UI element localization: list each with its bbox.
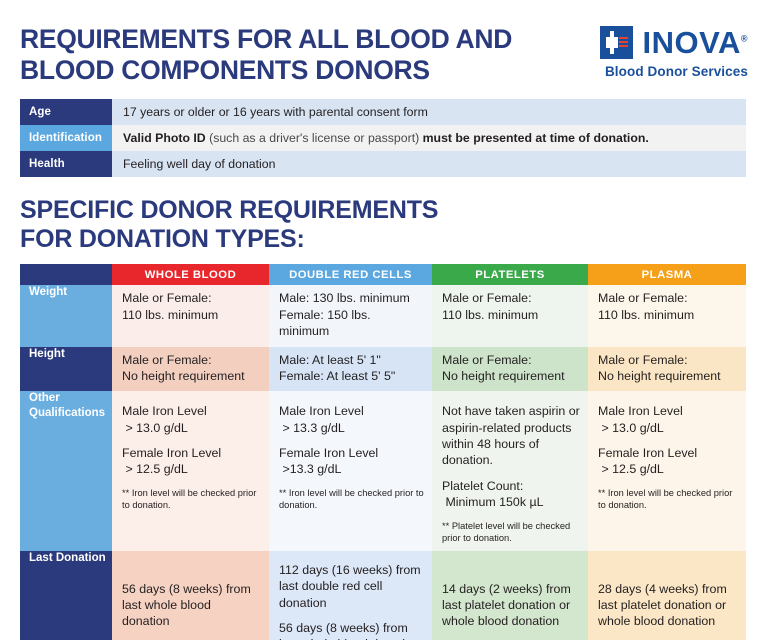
page-title-line2: BLOOD COMPONENTS DONORS: [20, 55, 512, 86]
text-line: Female: 150 lbs. minimum: [279, 308, 371, 338]
cell-last-donation-platelets: 14 days (2 weeks) from last platelet don…: [432, 551, 588, 640]
text-line: Female Iron Level: [279, 446, 378, 460]
text-line: No height requirement: [122, 369, 245, 383]
logo-wordmark-text: INOVA: [642, 25, 740, 60]
donation-requirements-table: WHOLE BLOOD DOUBLE RED CELLS PLATELETS P…: [20, 264, 746, 640]
inova-cross-icon: [600, 26, 633, 59]
page-header: REQUIREMENTS FOR ALL BLOOD AND BLOOD COM…: [20, 0, 748, 85]
text-line: 110 lbs. minimum: [598, 308, 694, 322]
text-block: Platelet Count: Minimum 150k µL: [442, 478, 580, 511]
general-requirements-table: Age 17 years or older or 16 years with p…: [20, 99, 746, 177]
text-line: Female Iron Level: [122, 446, 221, 460]
column-header-double-red-cells: DOUBLE RED CELLS: [269, 264, 432, 285]
table-header-row: WHOLE BLOOD DOUBLE RED CELLS PLATELETS P…: [20, 264, 746, 285]
cell-height-platelets: Male or Female: No height requirement: [432, 347, 588, 392]
logo-subtitle: Blood Donor Services: [605, 64, 748, 79]
row-label-height: Height: [20, 347, 112, 392]
table-row-height: Height Male or Female: No height require…: [20, 347, 746, 392]
text-block: Male Iron Level > 13.0 g/dL: [598, 403, 738, 436]
footnote: ** Iron level will be checked prior to d…: [122, 487, 261, 511]
text-line: > 13.0 g/dL: [125, 421, 187, 435]
text-line: Male or Female:: [598, 353, 688, 367]
cell-last-donation-whole-blood: 56 days (8 weeks) from last whole blood …: [112, 551, 269, 640]
text-line: Platelet Count:: [442, 479, 523, 493]
table-row: Age 17 years or older or 16 years with p…: [20, 99, 746, 125]
requirement-label-age: Age: [20, 99, 112, 125]
cell-height-double-red-cells: Male: At least 5' 1" Female: At least 5'…: [269, 347, 432, 392]
logo-wordmark: INOVA®: [642, 27, 748, 58]
text-line: Minimum 150k µL: [445, 495, 543, 509]
cell-last-donation-double-red-cells: 112 days (16 weeks) from last double red…: [269, 551, 432, 640]
cell-other-platelets: Not have taken aspirin or aspirin-relate…: [432, 391, 588, 550]
row-label-line1: Other: [29, 392, 60, 404]
text-line: Male Iron Level: [122, 404, 207, 418]
cell-height-whole-blood: Male or Female: No height requirement: [112, 347, 269, 392]
row-label-last-donation: Last Donation: [20, 551, 112, 640]
section-title-line2: FOR DONATION TYPES:: [20, 225, 748, 254]
text-line: >13.3 g/dL: [282, 462, 341, 476]
section-title: SPECIFIC DONOR REQUIREMENTS FOR DONATION…: [20, 196, 748, 253]
id-text-bold-1: Valid Photo ID: [123, 131, 209, 145]
column-header-plasma: PLASMA: [588, 264, 746, 285]
footnote: ** Iron level will be checked prior to d…: [598, 487, 738, 511]
text-line: No height requirement: [442, 369, 565, 383]
table-row-weight: Weight Male or Female: 110 lbs. minimum …: [20, 285, 746, 346]
cell-weight-whole-blood: Male or Female: 110 lbs. minimum: [112, 285, 269, 346]
text-block: Male Iron Level > 13.0 g/dL: [122, 403, 261, 436]
text-line: Female: At least 5' 5": [279, 369, 395, 383]
table-row-last-donation: Last Donation 56 days (8 weeks) from las…: [20, 551, 746, 640]
text-block: Female Iron Level > 12.5 g/dL: [122, 445, 261, 478]
text-line: No height requirement: [598, 369, 721, 383]
text-line: Male or Female:: [598, 291, 688, 305]
column-header-blank: [20, 264, 112, 285]
row-label-line2: Qualifications: [29, 407, 105, 419]
text-line: Male Iron Level: [279, 404, 364, 418]
text-line: > 12.5 g/dL: [125, 462, 187, 476]
row-label-other-qualifications: Other Qualifications: [20, 391, 112, 550]
column-header-platelets: PLATELETS: [432, 264, 588, 285]
requirement-value-age: 17 years or older or 16 years with paren…: [112, 99, 746, 125]
requirement-label-identification: Identification: [20, 125, 112, 151]
text-line: Male or Female:: [442, 353, 532, 367]
cell-other-double-red-cells: Male Iron Level > 13.3 g/dL Female Iron …: [269, 391, 432, 550]
text-line: > 12.5 g/dL: [601, 462, 663, 476]
text-block: Male Iron Level > 13.3 g/dL: [279, 403, 424, 436]
row-label-weight: Weight: [20, 285, 112, 346]
page-title-line1: REQUIREMENTS FOR ALL BLOOD AND: [20, 24, 512, 54]
text-block: Not have taken aspirin or aspirin-relate…: [442, 403, 580, 469]
text-line: Male: 130 lbs. minimum: [279, 291, 410, 305]
text-line: Male or Female:: [122, 353, 212, 367]
text-line: Male Iron Level: [598, 404, 683, 418]
text-line: Female Iron Level: [598, 446, 697, 460]
requirement-value-health: Feeling well day of donation: [112, 151, 746, 177]
footnote: ** Iron level will be checked prior to d…: [279, 487, 424, 511]
requirement-value-identification: Valid Photo ID (such as a driver's licen…: [112, 125, 746, 151]
column-header-whole-blood: WHOLE BLOOD: [112, 264, 269, 285]
text-line: > 13.0 g/dL: [601, 421, 663, 435]
text-line: 110 lbs. minimum: [442, 308, 538, 322]
id-text-bold-2: must be presented at time of donation.: [423, 131, 649, 145]
cell-last-donation-plasma: 28 days (4 weeks) from last platelet don…: [588, 551, 746, 640]
footnote: ** Platelet level will be checked prior …: [442, 520, 580, 544]
text-block: 56 days (8 weeks) from last whole blood …: [279, 620, 424, 640]
text-block: 112 days (16 weeks) from last double red…: [279, 562, 424, 611]
cell-weight-platelets: Male or Female: 110 lbs. minimum: [432, 285, 588, 346]
cell-weight-double-red-cells: Male: 130 lbs. minimum Female: 150 lbs. …: [269, 285, 432, 346]
text-line: Male or Female:: [442, 291, 532, 305]
cell-other-plasma: Male Iron Level > 13.0 g/dL Female Iron …: [588, 391, 746, 550]
id-text-light: (such as a driver's license or passport): [209, 131, 423, 145]
text-block: Female Iron Level >13.3 g/dL: [279, 445, 424, 478]
text-line: > 13.3 g/dL: [282, 421, 344, 435]
table-row-other-qualifications: Other Qualifications Male Iron Level > 1…: [20, 391, 746, 550]
text-line: Male or Female:: [122, 291, 212, 305]
registered-trademark-icon: ®: [741, 34, 748, 44]
page-title: REQUIREMENTS FOR ALL BLOOD AND BLOOD COM…: [20, 24, 512, 85]
text-line: 110 lbs. minimum: [122, 308, 218, 322]
section-title-line1: SPECIFIC DONOR REQUIREMENTS: [20, 196, 438, 224]
cell-height-plasma: Male or Female: No height requirement: [588, 347, 746, 392]
cell-weight-plasma: Male or Female: 110 lbs. minimum: [588, 285, 746, 346]
text-block: Female Iron Level > 12.5 g/dL: [598, 445, 738, 478]
requirement-label-health: Health: [20, 151, 112, 177]
text-line: Male: At least 5' 1": [279, 353, 381, 367]
inova-logo: INOVA® Blood Donor Services: [600, 24, 748, 79]
infographic-page: REQUIREMENTS FOR ALL BLOOD AND BLOOD COM…: [0, 0, 768, 640]
cell-other-whole-blood: Male Iron Level > 13.0 g/dL Female Iron …: [112, 391, 269, 550]
table-row: Identification Valid Photo ID (such as a…: [20, 125, 746, 151]
table-row: Health Feeling well day of donation: [20, 151, 746, 177]
